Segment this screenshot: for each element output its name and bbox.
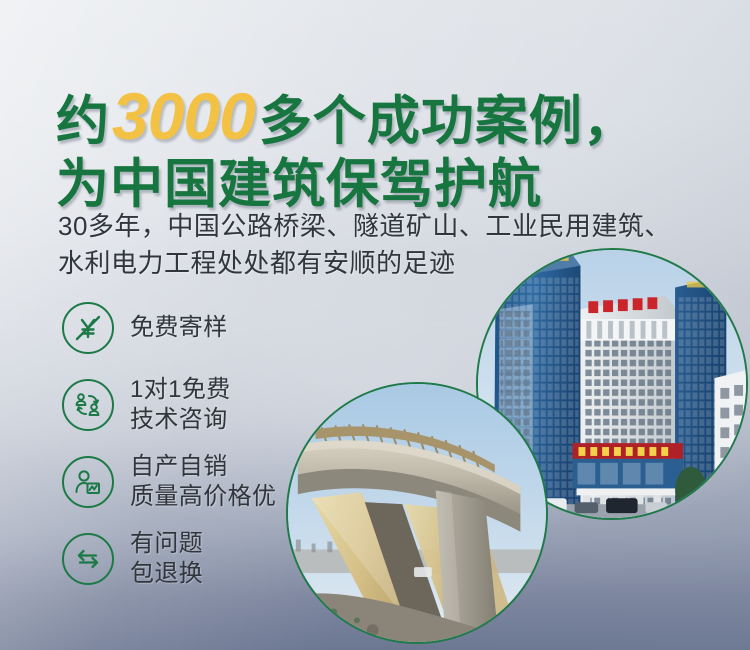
headline: 约3000多个成功案例， 为中国建筑保驾护航 xyxy=(56,82,716,212)
feature-item-self-production[interactable]: 自产自销 质量高价格优 xyxy=(62,454,276,510)
feature-item-return-exchange[interactable]: 有问题 包退换 xyxy=(62,531,276,587)
headline-suffix: 多个成功案例， xyxy=(259,92,637,151)
feature-text: 有问题 包退换 xyxy=(130,529,203,589)
feature-list: 免费寄样 1对1免费 技术咨询 xyxy=(62,300,276,608)
bridge-photo-art xyxy=(288,384,546,642)
headline-number: 3000 xyxy=(110,79,259,153)
feature-item-consultation[interactable]: 1对1免费 技术咨询 xyxy=(62,377,276,433)
feature-line-1: 1对1免费 xyxy=(130,376,231,403)
person-chart-icon xyxy=(62,456,114,508)
headline-line-1: 约3000多个成功案例， xyxy=(56,82,716,151)
feature-line-2: 质量高价格优 xyxy=(130,482,276,512)
feature-line-1: 免费寄样 xyxy=(130,314,228,341)
feature-line-1: 有问题 xyxy=(130,530,203,557)
one-on-one-consult-icon xyxy=(62,379,114,431)
feature-line-1: 自产自销 xyxy=(130,453,228,480)
subheading-line-1: 30多年，中国公路桥梁、隧道矿山、工业民用建筑、 xyxy=(58,208,738,245)
yuan-no-charge-icon xyxy=(62,302,114,354)
feature-text: 免费寄样 xyxy=(130,313,228,343)
feature-item-free-sample[interactable]: 免费寄样 xyxy=(62,300,276,356)
exchange-arrows-icon xyxy=(62,533,114,585)
headline-line-2: 为中国建筑保驾护航 xyxy=(56,157,716,212)
feature-line-2: 包退换 xyxy=(130,559,203,589)
feature-text: 自产自销 质量高价格优 xyxy=(130,452,276,512)
bridge-photo xyxy=(286,382,548,644)
promo-banner: 约3000多个成功案例， 为中国建筑保驾护航 30多年，中国公路桥梁、隧道矿山、… xyxy=(0,0,750,650)
feature-text: 1对1免费 技术咨询 xyxy=(130,375,231,435)
feature-line-2: 技术咨询 xyxy=(130,405,231,435)
headline-prefix: 约 xyxy=(56,92,110,151)
